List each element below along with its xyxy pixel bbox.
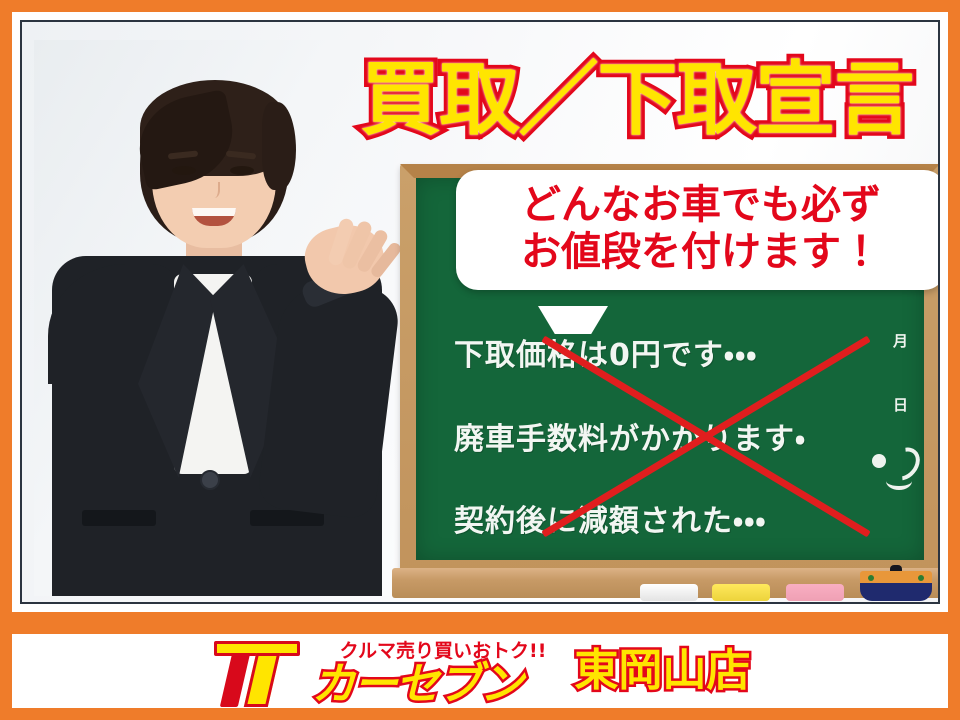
footer-brand: カーセブン (312, 663, 522, 707)
doodle-smile (886, 472, 912, 490)
board-line-3: 契約後に減額された・・・ (454, 496, 767, 540)
board-label-day: 日 (893, 394, 910, 415)
chalk-face-doodle-icon (870, 440, 916, 486)
bubble-line-2: お値段を付けます！ (470, 229, 932, 276)
seven-leg (243, 653, 279, 707)
speech-bubble: どんなお車でも必ず お値段を付けます！ (456, 170, 940, 290)
board-line-2: 廃車手数料がかかります・ (454, 414, 806, 458)
doodle-eye (872, 454, 886, 468)
white-chalk-icon (640, 584, 698, 601)
pocket-left (82, 510, 156, 526)
yellow-chalk-icon (712, 584, 770, 601)
footer-bar: クルマ売り買いおトク!! カーセブン 東岡山店 (12, 634, 948, 708)
bubble-line-1: どんなお車でも必ず (470, 182, 932, 229)
eraser-stud-right (918, 575, 924, 581)
nose (209, 182, 220, 198)
board-line-1: 下取価格は0円です・・・ (454, 330, 757, 374)
photo-inner: 買取／下取宣言 下取価格は0円です・・・ 廃車手数料がかかります・ 契約後に減額… (20, 20, 940, 604)
eraser-stud-left (868, 575, 874, 581)
teeth (192, 208, 236, 216)
eye-left (172, 166, 196, 175)
pink-chalk-icon (786, 584, 844, 601)
blackboard-eraser-icon (860, 571, 932, 601)
poster-root: 買取／下取宣言 下取価格は0円です・・・ 廃車手数料がかかります・ 契約後に減額… (0, 0, 960, 720)
photo-panel: 買取／下取宣言 下取価格は0円です・・・ 廃車手数料がかかります・ 契約後に減額… (12, 12, 948, 612)
carseven-logo: クルマ売り買いおトク!! カーセブン (210, 636, 547, 707)
chalk-tray (392, 568, 940, 598)
headline-title: 買取／下取宣言 (322, 48, 940, 152)
logo-text-group: クルマ売り買いおトク!! カーセブン (312, 636, 547, 707)
board-label-month: 月 (893, 330, 910, 351)
seven-mark-icon (210, 639, 306, 707)
eraser-bottom (860, 583, 932, 601)
eye-right (230, 166, 254, 175)
footer-store-name: 東岡山店 (574, 649, 750, 693)
jacket-button (200, 470, 220, 490)
